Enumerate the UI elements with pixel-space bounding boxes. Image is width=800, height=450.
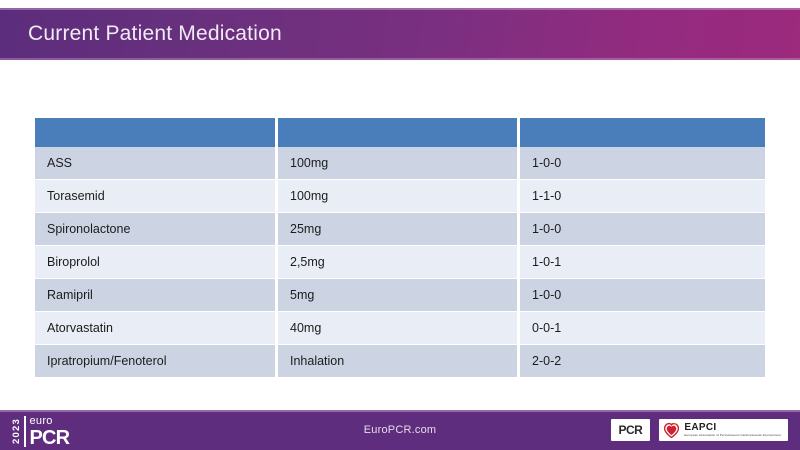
cell-medication: Ipratropium/Fenoterol xyxy=(35,345,278,378)
table-row: ASS 100mg 1-0-0 xyxy=(35,147,765,180)
medication-table-container: ASS 100mg 1-0-0 Torasemid 100mg 1-1-0 Sp… xyxy=(35,118,765,378)
cell-dose: 100mg xyxy=(278,147,520,180)
slide-footer-band: 2023 euro PCR EuroPCR.com PCR EAPCI Euro… xyxy=(0,410,800,450)
eapci-subtitle: European Association of Percutaneous Car… xyxy=(684,434,781,437)
cell-schedule: 1-0-0 xyxy=(520,147,765,180)
eapci-name: EAPCI xyxy=(684,423,781,433)
cell-medication: Ramipril xyxy=(35,279,278,312)
cell-schedule: 2-0-2 xyxy=(520,345,765,378)
pcr-logo-chip: PCR xyxy=(611,419,651,441)
cell-schedule: 1-0-0 xyxy=(520,213,765,246)
column-header-medication xyxy=(35,118,278,147)
cell-schedule: 1-0-1 xyxy=(520,246,765,279)
table-row: Spironolactone 25mg 1-0-0 xyxy=(35,213,765,246)
cell-medication: ASS xyxy=(35,147,278,180)
eapci-text-block: EAPCI European Association of Percutaneo… xyxy=(684,423,781,438)
table-row: Ramipril 5mg 1-0-0 xyxy=(35,279,765,312)
cell-dose: 100mg xyxy=(278,180,520,213)
page-title: Current Patient Medication xyxy=(0,22,282,46)
slide-root: Current Patient Medication ASS 100mg xyxy=(0,0,800,450)
table-row: Torasemid 100mg 1-1-0 xyxy=(35,180,765,213)
table-header-row xyxy=(35,118,765,147)
cell-dose: 5mg xyxy=(278,279,520,312)
cell-dose: Inhalation xyxy=(278,345,520,378)
cell-dose: 2,5mg xyxy=(278,246,520,279)
cell-schedule: 1-0-0 xyxy=(520,279,765,312)
slide-header-band: Current Patient Medication xyxy=(0,8,800,60)
column-header-schedule xyxy=(520,118,765,147)
table-row: Biroprolol 2,5mg 1-0-1 xyxy=(35,246,765,279)
table-body: ASS 100mg 1-0-0 Torasemid 100mg 1-1-0 Sp… xyxy=(35,147,765,378)
cell-medication: Biroprolol xyxy=(35,246,278,279)
cell-dose: 25mg xyxy=(278,213,520,246)
table-header xyxy=(35,118,765,147)
cell-schedule: 0-0-1 xyxy=(520,312,765,345)
column-header-dose xyxy=(278,118,520,147)
cell-medication: Torasemid xyxy=(35,180,278,213)
cell-schedule: 1-1-0 xyxy=(520,180,765,213)
medication-table: ASS 100mg 1-0-0 Torasemid 100mg 1-1-0 Sp… xyxy=(35,118,765,378)
footer-logo-group: PCR EAPCI European Association of Percut… xyxy=(611,410,788,450)
cell-dose: 40mg xyxy=(278,312,520,345)
table-row: Ipratropium/Fenoterol Inhalation 2-0-2 xyxy=(35,345,765,378)
cell-medication: Spironolactone xyxy=(35,213,278,246)
heart-icon xyxy=(663,422,680,439)
cell-medication: Atorvastatin xyxy=(35,312,278,345)
eapci-logo: EAPCI European Association of Percutaneo… xyxy=(659,419,788,441)
table-row: Atorvastatin 40mg 0-0-1 xyxy=(35,312,765,345)
